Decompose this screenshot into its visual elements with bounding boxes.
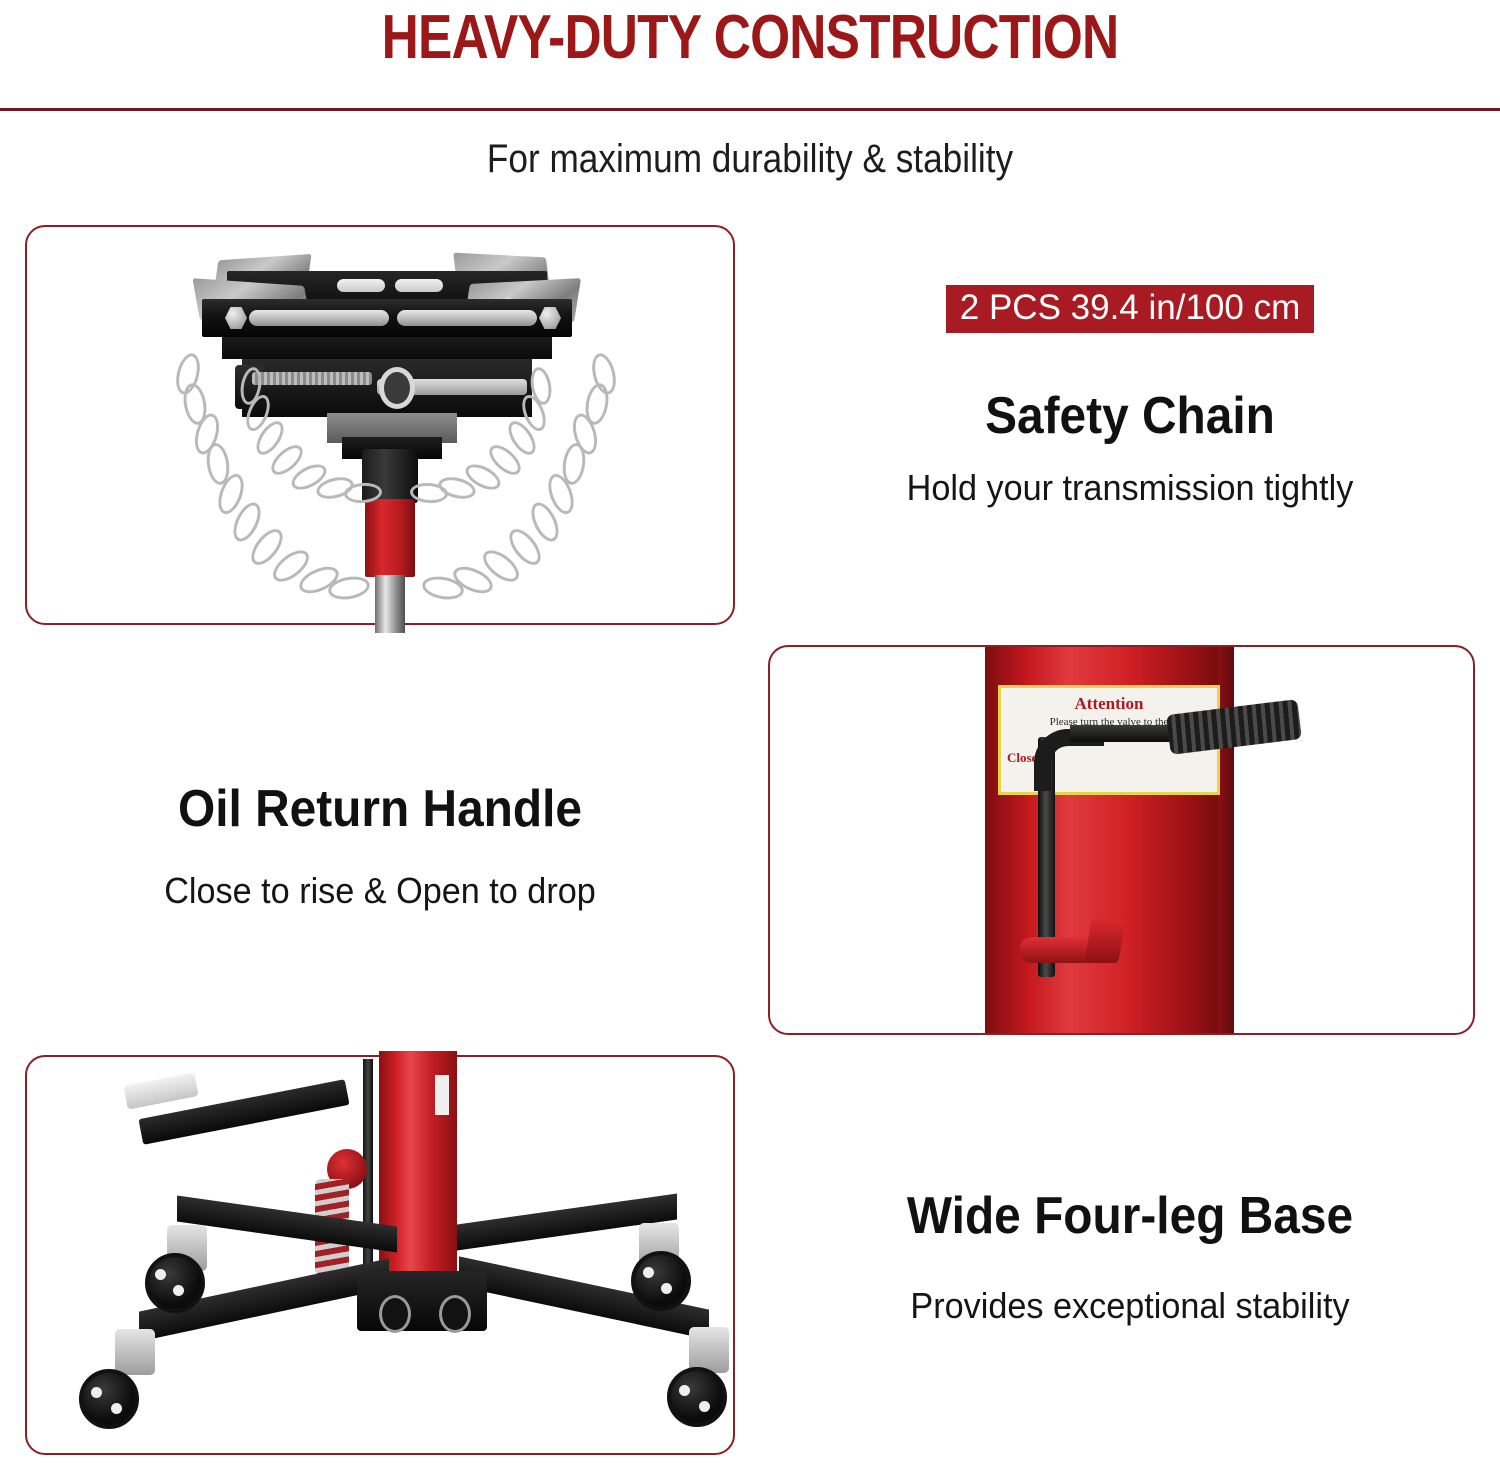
caster-wheel-hole (679, 1385, 690, 1396)
oil-return-handle-title: Oil Return Handle (58, 778, 702, 840)
saddle-slot (395, 279, 443, 292)
caster-wheel (631, 1251, 691, 1311)
shaft-ring (379, 367, 415, 409)
chrome-ram (375, 575, 405, 633)
caster-wheel-hole (155, 1269, 166, 1280)
saddle-bolt-slot (249, 310, 389, 326)
caster-wheel-hole (699, 1401, 710, 1412)
panel-oil-return-handle: Attention Please turn the valve to the p… (768, 645, 1475, 1035)
page-title: HEAVY-DUTY CONSTRUCTION (128, 2, 1373, 74)
base-hole (379, 1295, 411, 1333)
feature-oil-return-handle: Oil Return Handle Close to rise & Open t… (30, 778, 730, 914)
caster-wheel-hole (91, 1387, 102, 1398)
oil-return-handle-subtitle: Close to rise & Open to drop (48, 868, 713, 914)
feature-wide-four-leg-base: Wide Four-leg Base Provides exceptional … (790, 1185, 1470, 1329)
safety-chain-badge-wrap: 2 PCS 39.4 in/100 cm (790, 285, 1470, 333)
panel-four-leg-base (25, 1055, 735, 1455)
cylinder-edge-highlight (1218, 645, 1234, 1035)
caster-wheel (667, 1367, 727, 1427)
saddle-lower-beam (222, 337, 552, 359)
caster-wheel (145, 1253, 205, 1313)
panel-saddle-chain (25, 225, 735, 625)
safety-chain-subtitle: Hold your transmission tightly (807, 465, 1453, 511)
column-label (435, 1075, 449, 1115)
four-leg-base-photo (27, 1057, 733, 1453)
caster-wheel-hole (661, 1283, 672, 1294)
saddle-slot (337, 279, 385, 292)
caster-wheel (79, 1369, 139, 1429)
base-hole (439, 1295, 471, 1333)
caster-fork (115, 1329, 155, 1375)
oil-return-handle-photo: Attention Please turn the valve to the p… (770, 647, 1473, 1033)
four-leg-base-subtitle: Provides exceptional stability (807, 1283, 1453, 1329)
safety-chain-title: Safety Chain (817, 385, 1443, 447)
feature-safety-chain: 2 PCS 39.4 in/100 cm Safety Chain Hold y… (790, 285, 1470, 511)
attention-label-title: Attention (1007, 694, 1211, 714)
ram-red-collar (365, 499, 415, 577)
caster-wheel-hole (111, 1403, 122, 1414)
saddle-chain-photo (27, 227, 733, 623)
saddle-bolt-slot (397, 310, 537, 326)
page-subtitle: For maximum durability & stability (90, 134, 1410, 184)
caster-wheel-hole (173, 1285, 184, 1296)
four-leg-base-title: Wide Four-leg Base (817, 1185, 1443, 1247)
header-divider (0, 108, 1500, 111)
foot-pedal-pad (123, 1072, 198, 1109)
adjuster-screw (252, 372, 372, 385)
safety-chain-badge: 2 PCS 39.4 in/100 cm (946, 285, 1314, 333)
caster-wheel-hole (643, 1267, 654, 1278)
